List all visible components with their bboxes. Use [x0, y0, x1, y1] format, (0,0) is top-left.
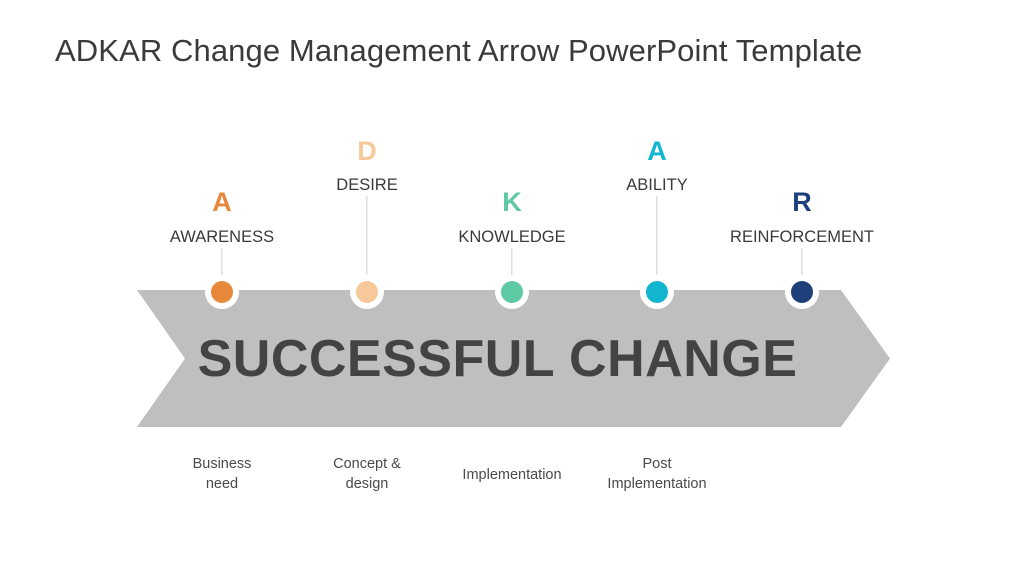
page-title: ADKAR Change Management Arrow PowerPoint…: [55, 33, 975, 69]
milestone-name: ABILITY: [626, 177, 687, 194]
milestone-dot[interactable]: [211, 281, 233, 303]
milestone-name: KNOWLEDGE: [458, 229, 565, 246]
milestone-dot[interactable]: [356, 281, 378, 303]
milestone-dot[interactable]: [646, 281, 668, 303]
successful-change-arrow: [137, 290, 890, 427]
milestone-name: REINFORCEMENT: [730, 229, 874, 246]
milestone-caption: Post Implementation: [572, 455, 742, 494]
milestone-dot[interactable]: [791, 281, 813, 303]
milestone-letter: A: [212, 189, 232, 216]
milestone-letter: D: [357, 138, 377, 165]
milestone-letter: K: [502, 189, 522, 216]
slide-canvas: ADKAR Change Management Arrow PowerPoint…: [0, 0, 1024, 576]
milestone-name: DESIRE: [336, 177, 397, 194]
milestone-letter: A: [647, 138, 667, 165]
milestone-dot[interactable]: [501, 281, 523, 303]
milestone-name: AWARENESS: [170, 229, 274, 246]
milestone-letter: R: [792, 189, 812, 216]
